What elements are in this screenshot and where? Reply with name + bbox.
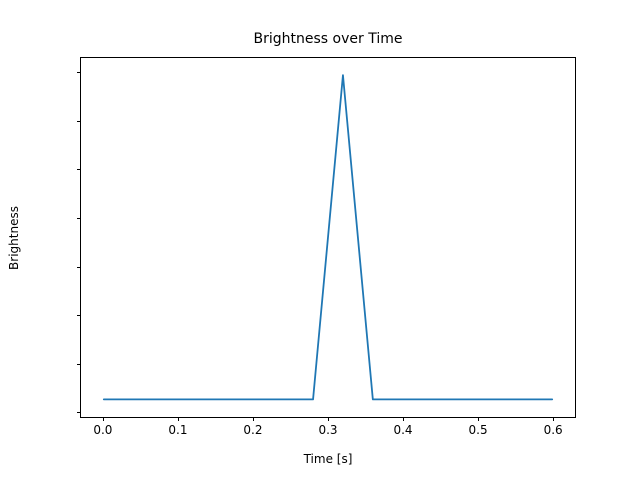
x-tick-label: 0.2 [223,423,283,437]
x-tick-mark [178,417,179,421]
chart-figure: Brightness over Time Brightness 60070080… [0,0,640,480]
x-tick-mark [403,417,404,421]
x-tick-mark [253,417,254,421]
x-tick-mark [103,417,104,421]
x-axis-tick-marks [0,417,640,422]
x-tick-label: 0.0 [73,423,133,437]
x-tick-mark [553,417,554,421]
x-tick-mark [478,417,479,421]
x-tick-label: 0.1 [148,423,208,437]
x-tick-label: 0.3 [298,423,358,437]
x-tick-mark [328,417,329,421]
y-axis-tick-labels: 6007008009001000110012001300 [0,0,80,480]
x-axis-label: Time [s] [80,452,576,466]
x-tick-label: 0.6 [523,423,583,437]
x-tick-label: 0.5 [448,423,508,437]
x-axis-tick-labels: 0.00.10.20.30.40.50.6 [0,423,640,443]
chart-title: Brightness over Time [80,30,576,48]
data-line-series [81,58,575,417]
plot-area [80,57,576,418]
series-polyline [104,75,552,399]
x-tick-label: 0.4 [373,423,433,437]
